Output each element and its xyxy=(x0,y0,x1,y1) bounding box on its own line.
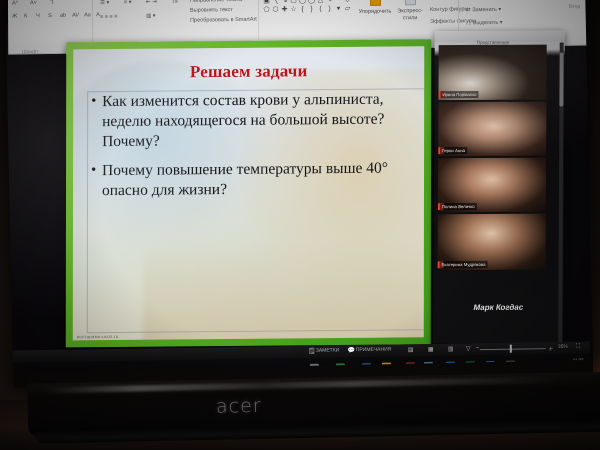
slide-area[interactable]: Решаем задачи Как изменится состав крови… xyxy=(66,39,432,347)
text-direction-button[interactable]: Направление текста xyxy=(190,0,242,5)
powerpoint-window: ВСТАВКА РЕЦЕНЗИРОВАНИЕ ВИД Отменить демо… xyxy=(8,0,590,371)
zoom-slider-track[interactable] xyxy=(480,348,546,350)
shape-brace-icon[interactable]: { xyxy=(298,5,307,14)
comments-icon[interactable]: 💬 xyxy=(348,347,356,354)
normal-view-icon[interactable]: ▤ xyxy=(408,346,414,353)
bold-button[interactable]: Ж xyxy=(12,12,17,20)
numbering-icon[interactable]: ≡ ▾ xyxy=(124,0,132,7)
shape-pent-icon[interactable]: ⬠ xyxy=(262,5,271,14)
bullets-icon[interactable]: ☰ ▾ xyxy=(100,0,109,7)
quick-styles-icon xyxy=(404,0,415,5)
ribbon-divider-2 xyxy=(258,0,259,43)
taskbar-zoom-icon[interactable] xyxy=(446,362,455,371)
font-size-buttons[interactable]: A^ xyxy=(12,0,18,8)
shape-outline-button[interactable]: Контур фигуры xyxy=(430,5,469,14)
shape-paren-icon[interactable]: ( xyxy=(316,5,325,14)
fit-to-window-icon[interactable]: ⛶ xyxy=(576,344,580,351)
slide-body-placeholder[interactable]: Как изменится состав крови у альпиниста,… xyxy=(87,88,424,333)
arrange-label: Упорядочить xyxy=(359,9,392,16)
ribbon-group-font: A^ A˅ Ꞁ Ж К Ч S ab AV Aa A Шрифт xyxy=(10,0,98,47)
participant-tile-3[interactable]: Полина Величко xyxy=(438,158,546,213)
laptop-lid: ВСТАВКА РЕЦЕНЗИРОВАНИЕ ВИД Отменить демо… xyxy=(5,0,593,388)
taskbar-clock[interactable]: 11:35 16.04.2021 xyxy=(561,358,584,370)
clock-time: 11:35 xyxy=(561,358,584,364)
slide-bullet-1: Как изменится состав крови у альпиниста,… xyxy=(102,89,424,152)
participant-tile-1[interactable]: Ирина Порівалко xyxy=(438,45,546,101)
align-text-button[interactable]: Выровнять текст xyxy=(190,6,233,15)
replace-label: Заменить xyxy=(472,7,497,13)
participant-name-3: Полина Величко xyxy=(440,203,477,210)
convert-to-smartart-button[interactable]: Преобразовать в SmartArt xyxy=(190,16,257,25)
ribbon-group-drawing: ▣ ╲ ↘ ▢ ◯ ◯ △ ∿ ⌒ ◇ ⬠ ⬡ xyxy=(262,0,462,43)
zoom-level-label[interactable]: 35% xyxy=(558,344,568,350)
comments-button[interactable]: ПРИМЕЧАНИЯ xyxy=(356,347,392,354)
ribbon-group-paragraph: ☰ ▾ ≡ ▾ ⇤ ⇥ ↕≡ ≡ ≡ ≡ ≡ ▥ ▾ Направление т… xyxy=(98,0,258,45)
shape-flow-icon[interactable]: ⬡ xyxy=(271,5,280,14)
sign-in-label[interactable]: Вход xyxy=(569,4,580,10)
reading-view-icon[interactable]: ▥ xyxy=(448,346,454,353)
active-speaker-name: Марк Когдас xyxy=(433,303,563,313)
slide-title[interactable]: Решаем задачи xyxy=(73,60,424,83)
taskbar-app-icon-5[interactable] xyxy=(506,361,515,370)
participant-name-4: Екатерина Мудрякова xyxy=(440,261,488,268)
replace-button[interactable]: ⇄ Заменить ▾ xyxy=(466,6,501,15)
line-spacing-icon[interactable]: ↕≡ xyxy=(172,0,178,6)
shape-banner-icon[interactable]: ▱ xyxy=(343,4,352,13)
change-case-button[interactable]: Aa xyxy=(84,11,91,19)
acer-logo: acer xyxy=(164,394,314,419)
slide-green-frame: Решаем задачи Как изменится состав крови… xyxy=(66,39,432,347)
align-icons[interactable]: ≡ ≡ ≡ ≡ xyxy=(100,13,117,21)
taskbar-explorer-icon[interactable] xyxy=(336,363,345,372)
shape-star-icon[interactable]: ☆ xyxy=(289,5,298,14)
zoom-slider-handle[interactable] xyxy=(510,345,512,353)
participant-tile-2[interactable]: Герои Анна xyxy=(438,102,546,157)
zoom-participants-panel[interactable]: Представления Ирина Порівалко Герои Анна xyxy=(433,31,565,344)
slideshow-icon[interactable]: ▽ xyxy=(466,345,471,352)
shape-more-icon[interactable]: ▾ xyxy=(334,4,343,13)
italic-button[interactable]: К xyxy=(24,12,27,20)
underline-button[interactable]: Ч xyxy=(36,12,40,20)
participant-tile-4[interactable]: Екатерина Мудрякова xyxy=(438,214,546,271)
sorter-view-icon[interactable]: ▦ xyxy=(428,346,434,353)
columns-icon[interactable]: ▥ ▾ xyxy=(146,12,156,20)
slide-bullet-list: Как изменится состав крови у альпиниста,… xyxy=(88,89,424,201)
clear-format-icon[interactable]: Ꞁ xyxy=(50,0,53,7)
taskbar-start-icon[interactable] xyxy=(310,364,319,372)
participant-name-1: Ирина Порівалко xyxy=(440,91,478,98)
taskbar-app-icon-4[interactable] xyxy=(466,361,475,370)
indent-icons[interactable]: ⇤ ⇥ xyxy=(146,0,157,6)
language-indicator[interactable]: РУС xyxy=(534,362,544,368)
strikethrough-button[interactable]: S xyxy=(48,12,52,20)
font-size-decrease[interactable]: A˅ xyxy=(30,0,37,7)
shadow-button[interactable]: ab xyxy=(60,12,66,20)
taskbar-browser-icon[interactable] xyxy=(486,361,495,370)
taskbar-app-icon-2[interactable] xyxy=(382,363,391,372)
notes-button[interactable]: ЗАМЕТКИ xyxy=(316,347,339,353)
photo-scene: ВСТАВКА РЕЦЕНЗИРОВАНИЕ ВИД Отменить демо… xyxy=(0,0,600,450)
quick-styles-button[interactable]: Экспресс-стили xyxy=(394,0,426,23)
find-button[interactable]: 🔍 Найти xyxy=(466,0,490,1)
shape-cross-icon[interactable]: ✚ xyxy=(280,5,289,14)
zoom-out-icon[interactable]: − xyxy=(476,345,480,351)
taskbar-app-icon-1[interactable] xyxy=(362,363,371,372)
arrange-button[interactable]: Упорядочить xyxy=(358,0,392,16)
shape-paren2-icon[interactable]: ) xyxy=(325,4,334,13)
zoom-in-icon[interactable]: ＋ xyxy=(548,344,554,353)
taskbar-powerpoint-icon[interactable] xyxy=(406,362,415,371)
arrange-icon xyxy=(369,0,380,6)
quick-styles-label: Экспресс-стили xyxy=(397,8,423,21)
participant-name-2: Герои Анна xyxy=(440,147,467,154)
taskbar-app-icon-3[interactable] xyxy=(424,362,433,371)
shape-brace2-icon[interactable]: } xyxy=(307,5,316,14)
char-spacing-button[interactable]: AV xyxy=(72,11,79,19)
clock-date: 16.04.2021 xyxy=(561,364,584,370)
select-button[interactable]: ⬚ Выделить ▾ xyxy=(466,19,502,28)
laptop-screen: ВСТАВКА РЕЦЕНЗИРОВАНИЕ ВИД Отменить демо… xyxy=(5,0,593,372)
slide-footer-watermark: волгарамо-ucoz.ru xyxy=(77,334,119,339)
ribbon-group-font-label: Шрифт xyxy=(5,49,70,56)
zoom-panel-scrollbar-thumb[interactable] xyxy=(559,53,563,107)
laptop: ВСТАВКА РЕЦЕНЗИРОВАНИЕ ВИД Отменить демо… xyxy=(0,0,600,450)
notes-icon[interactable]: 🗒 xyxy=(308,348,316,355)
slide-bullet-2: Почему повышение температуры выше 40° оп… xyxy=(102,158,424,201)
select-label: Выделить xyxy=(473,20,498,26)
zoom-panel-header: Представления xyxy=(435,31,565,43)
slide-canvas[interactable]: Решаем задачи Как изменится состав крови… xyxy=(73,46,424,340)
shapes-gallery[interactable]: ▣ ╲ ↘ ▢ ◯ ◯ △ ∿ ⌒ ◇ ⬠ ⬡ xyxy=(262,0,352,15)
